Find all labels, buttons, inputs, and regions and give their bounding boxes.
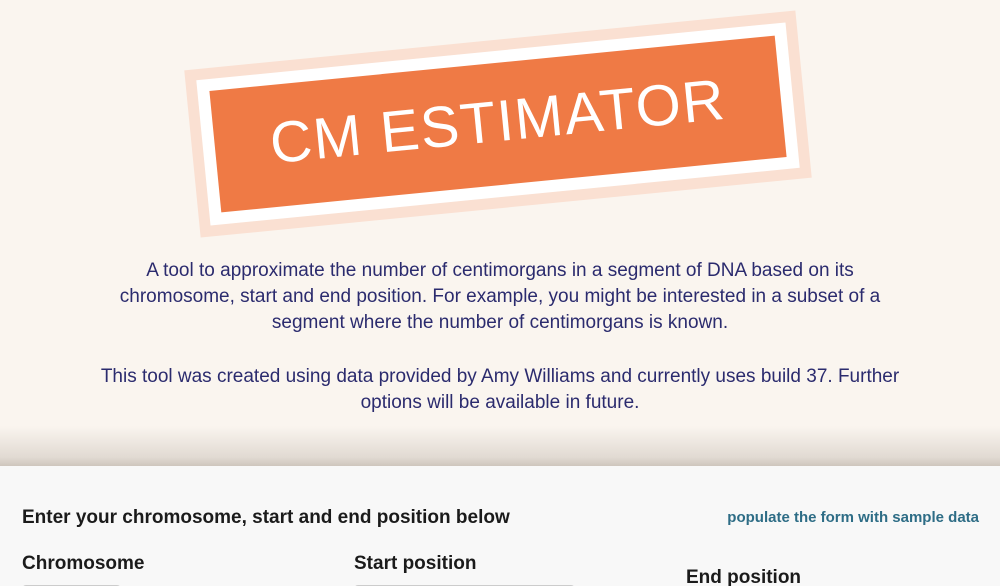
hero-paragraph-2: This tool was created using data provide… — [100, 364, 900, 416]
populate-sample-data-link[interactable]: populate the form with sample data — [727, 509, 979, 526]
page-root: CM ESTIMATOR A tool to approximate the n… — [0, 0, 1000, 586]
logo-fill: CM ESTIMATOR — [209, 36, 786, 213]
start-position-label: Start position — [354, 553, 575, 575]
chromosome-label: Chromosome — [22, 553, 144, 575]
field-end-position: End position — [686, 567, 907, 586]
hero-bottom-shadow — [0, 426, 1000, 466]
app-title: CM ESTIMATOR — [267, 71, 728, 177]
hero-description: A tool to approximate the number of cent… — [100, 258, 900, 416]
end-position-label: End position — [686, 567, 907, 586]
logo-inner-border: CM ESTIMATOR — [196, 22, 799, 225]
form-heading: Enter your chromosome, start and end pos… — [22, 507, 510, 529]
logo-outer-border: CM ESTIMATOR — [184, 10, 811, 237]
app-logo-banner: CM ESTIMATOR — [191, 22, 805, 222]
field-chromosome: Chromosome — [22, 553, 144, 586]
hero-paragraph-1: A tool to approximate the number of cent… — [100, 258, 900, 336]
form-section: Enter your chromosome, start and end pos… — [0, 466, 1000, 586]
field-start-position: Start position — [354, 553, 575, 586]
hero-section: CM ESTIMATOR A tool to approximate the n… — [0, 0, 1000, 466]
